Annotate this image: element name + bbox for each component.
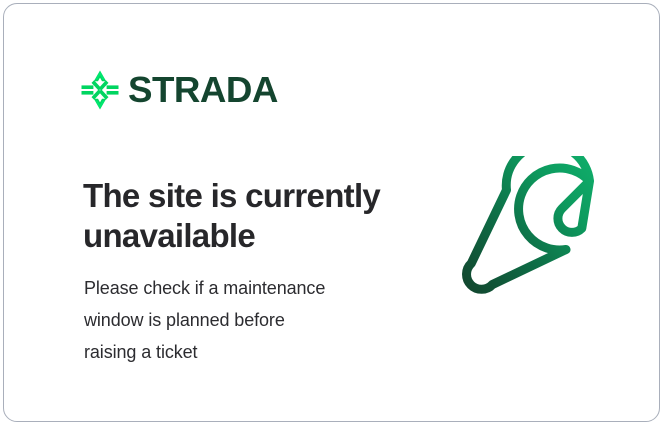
page-title: The site is currently unavailable xyxy=(83,176,413,256)
description-line: raising a ticket xyxy=(84,336,404,368)
description-line: Please check if a maintenance xyxy=(84,272,404,304)
brand-wordmark: STRADA xyxy=(128,72,278,108)
status-card: STRADA The site is currently unavailable… xyxy=(3,3,660,422)
description-line: window is planned before xyxy=(84,304,404,336)
page-description: Please check if a maintenance window is … xyxy=(84,272,404,368)
brand-logo: STRADA xyxy=(81,70,275,110)
strada-asterisk-icon xyxy=(81,70,119,110)
wrench-icon xyxy=(456,156,616,316)
